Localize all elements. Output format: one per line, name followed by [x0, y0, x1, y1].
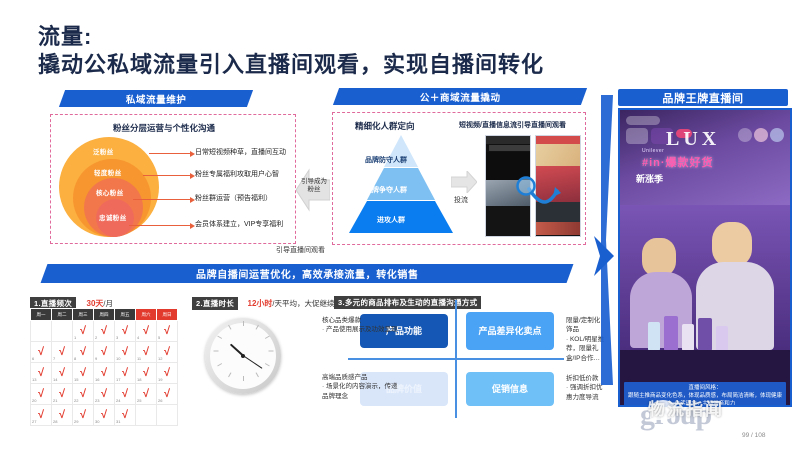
- calendar-day-number: 3: [116, 335, 118, 340]
- calendar-day-number: 15: [74, 377, 78, 382]
- banner-public-domain: 公＋商域流量撬动: [333, 88, 587, 105]
- calendar-weekday-3: 周四: [94, 309, 115, 321]
- calendar-day-number: 20: [32, 398, 36, 403]
- section-2-highlight: 12小时: [248, 299, 273, 308]
- live-room-avatar-chip: [626, 128, 648, 144]
- calendar-day-number: 21: [53, 398, 57, 403]
- live-room-screenshot: LUX Unilever #in·爆款好货 新涨季 直播间风格： 跟随主推商品变…: [618, 108, 792, 407]
- clock-tick-6: [243, 376, 244, 381]
- calendar-day-2[interactable]: √2: [94, 321, 115, 342]
- traffic-inject-arrow-icon: [451, 171, 477, 193]
- calendar-day-31[interactable]: √31: [115, 405, 136, 426]
- calendar-day-25[interactable]: √25: [136, 384, 157, 405]
- calendar-day-16[interactable]: √16: [94, 363, 115, 384]
- callout-text-4: 会员体系建立，VIP专享福利: [195, 219, 283, 229]
- clock-tick-0: [243, 321, 244, 326]
- calendar-day-number: 6: [32, 356, 34, 361]
- live-room-headline: #in·爆款好货: [642, 154, 714, 170]
- calendar-day-4[interactable]: √4: [136, 321, 157, 342]
- calendar-day-22[interactable]: √22: [73, 384, 94, 405]
- calendar-day-9[interactable]: √9: [94, 342, 115, 363]
- callout-arrow-1: [149, 153, 191, 154]
- calendar-check-icon: √: [74, 326, 92, 337]
- calendar-day-5[interactable]: √5: [157, 321, 178, 342]
- calendar-row: √6√7√8√9√10√11√12: [31, 342, 178, 363]
- become-fan-arrow-label: 引导成为粉丝: [299, 178, 329, 194]
- fan-ring-outer-label: 泛粉丝: [93, 146, 114, 156]
- banner-private-domain-label: 私域流量维护: [126, 92, 187, 106]
- calendar-check-icon: √: [53, 347, 71, 358]
- calendar-day-30[interactable]: √30: [94, 405, 115, 426]
- pyramid-label-defense: 品牌防守人群: [365, 155, 407, 165]
- calendar-day-number: 5: [158, 335, 160, 340]
- calendar-day-number: 27: [32, 419, 36, 424]
- private-domain-panel: 粉丝分层运营与个性化沟通 泛粉丝 轻度粉丝 核心粉丝 忠诚粉丝 日常短视频种草，…: [50, 114, 296, 244]
- calendar-check-icon: √: [137, 326, 155, 337]
- calendar-day-number: 30: [95, 419, 99, 424]
- product-bottle-3: [682, 324, 694, 352]
- magnifier-icon: [515, 175, 561, 215]
- page-number: 99 / 108: [742, 432, 766, 439]
- calendar-check-icon: √: [158, 326, 176, 337]
- calendar-check-icon: √: [116, 326, 134, 337]
- calendar-day-number: 31: [116, 419, 120, 424]
- slide-root: 流量: 撬动公私域流量引入直播间观看，实现自播间转化 私域流量维护 公＋商域流量…: [0, 0, 800, 450]
- calendar-day-8[interactable]: √8: [73, 342, 94, 363]
- calendar-day-number: 13: [32, 377, 36, 382]
- calendar-day-number: 24: [116, 398, 120, 403]
- quadrant-horizontal-axis: [348, 358, 564, 360]
- calendar-body: √1√2√3√4√5√6√7√8√9√10√11√12√13√14√15√16√…: [31, 321, 178, 426]
- calendar-day-number: 29: [74, 419, 78, 424]
- calendar-day-10[interactable]: √10: [115, 342, 136, 363]
- clock-tick-3: [269, 351, 274, 352]
- calendar-table: 周一周二周三周四周五周六周日 √1√2√3√4√5√6√7√8√9√10√11√…: [30, 308, 178, 426]
- page-title: 流量: 撬动公私域流量引入直播间观看，实现自播间转化: [38, 24, 544, 79]
- calendar-day-number: 9: [95, 356, 97, 361]
- fan-ring-loyal-label: 忠诚粉丝: [99, 212, 127, 222]
- calendar-weekday-2: 周三: [73, 309, 94, 321]
- live-room-season: 新涨季: [636, 172, 663, 185]
- live-room-viewer-1: [738, 128, 752, 142]
- calendar-day-empty: [157, 405, 178, 426]
- calendar-day-number: 22: [74, 398, 78, 403]
- public-domain-panel: 精细化人群定向 短视频/直播信息流引导直播间观看 品牌防守人群 品牌争夺人群 进…: [332, 112, 586, 245]
- calendar-header-row: 周一周二周三周四周五周六周日: [31, 309, 178, 321]
- calendar-day-number: 17: [116, 377, 120, 382]
- private-domain-heading: 粉丝分层运营与个性化沟通: [113, 122, 215, 134]
- product-bottle-4: [698, 318, 712, 352]
- host-female-head: [642, 238, 676, 276]
- calendar-day-number: 11: [137, 356, 141, 361]
- product-bottle-5: [716, 326, 728, 352]
- calendar-check-icon: √: [95, 347, 113, 358]
- callout-arrow-4: [129, 225, 191, 226]
- calendar-day-18[interactable]: √18: [136, 363, 157, 384]
- title-line-1: 流量:: [38, 24, 544, 49]
- calendar-day-15[interactable]: √15: [73, 363, 94, 384]
- live-room-host-chip: [626, 116, 660, 125]
- public-domain-heading-right: 短视频/直播信息流引导直播间观看: [459, 120, 566, 130]
- calendar-day-28[interactable]: √28: [52, 405, 73, 426]
- calendar-day-20[interactable]: √20: [31, 384, 52, 405]
- traffic-inject-label: 投流: [454, 195, 468, 205]
- banner-operations-label: 品牌自播间运营优化，高效承接流量，转化销售: [196, 266, 419, 281]
- clock-center-pin: [241, 354, 245, 358]
- live-room-viewer-3: [770, 128, 784, 142]
- calendar-day-29[interactable]: √29: [73, 405, 94, 426]
- calendar-day-number: 25: [137, 398, 141, 403]
- calendar-day-number: 18: [137, 377, 141, 382]
- calendar-day-number: 14: [53, 377, 57, 382]
- calendar-check-icon: √: [32, 347, 50, 358]
- calendar-row: √27√28√29√30√31: [31, 405, 178, 426]
- broadcast-frequency-calendar: 周一周二周三周四周五周六周日 √1√2√3√4√5√6√7√8√9√10√11√…: [30, 308, 178, 426]
- calendar-day-number: 4: [137, 335, 139, 340]
- calendar-row: √20√21√22√23√24√25√26: [31, 384, 178, 405]
- calendar-weekday-4: 周五: [115, 309, 136, 321]
- live-room-brand-logo: LUX: [666, 128, 720, 151]
- banner-brand-live-room: 品牌王牌直播间: [618, 89, 788, 106]
- calendar-day-26[interactable]: √26: [157, 384, 178, 405]
- quadrant-note-top-left: 核心品类爆款 · 产品使用展示及功效呈现: [322, 316, 398, 335]
- calendar-day-11[interactable]: √11: [136, 342, 157, 363]
- section-1-suffix: /月: [103, 299, 113, 308]
- banner-operations: 品牌自播间运营优化，高效承接流量，转化销售: [41, 264, 574, 283]
- calendar-day-number: 10: [116, 356, 120, 361]
- calendar-weekday-1: 周二: [52, 309, 73, 321]
- calendar-day-13[interactable]: √13: [31, 363, 52, 384]
- calendar-row: √1√2√3√4√5: [31, 321, 178, 342]
- calendar-row: √13√14√15√16√17√18√19: [31, 363, 178, 384]
- calendar-weekday-6: 周日: [157, 309, 178, 321]
- public-domain-heading-left: 精细化人群定向: [355, 120, 415, 132]
- section-2-header: 2.直播时长 12小时/天平均，大促继续拉长: [192, 293, 350, 311]
- calendar-day-21[interactable]: √21: [52, 384, 73, 405]
- fan-ring-light-label: 轻度粉丝: [94, 167, 122, 177]
- calendar-day-12[interactable]: √12: [157, 342, 178, 363]
- calendar-day-6[interactable]: √6: [31, 342, 52, 363]
- calendar-day-number: 26: [158, 398, 162, 403]
- title-line-2: 撬动公私域流量引入直播间观看，实现自播间转化: [38, 51, 544, 79]
- callout-text-2: 粉丝专属福利攻取用户心智: [195, 169, 279, 179]
- pyramid-label-contest: 品牌争夺人群: [365, 185, 407, 195]
- live-room-viewer-2: [754, 128, 768, 142]
- calendar-day-14[interactable]: √14: [52, 363, 73, 384]
- callout-text-3: 粉丝群运营（预告福利）: [195, 193, 272, 203]
- banner-brand-live-room-label: 品牌王牌直播间: [662, 90, 743, 106]
- quadrant-differentiation: 产品差异化卖点: [466, 312, 554, 350]
- calendar-check-icon: √: [95, 326, 113, 337]
- calendar-day-number: 28: [53, 419, 57, 424]
- quadrant-promotion-info: 促销信息: [466, 372, 554, 406]
- calendar-day-empty: [31, 321, 52, 342]
- calendar-day-empty: [52, 321, 73, 342]
- fan-ring-core-label: 核心粉丝: [96, 187, 124, 197]
- guide-watch-label: 引导直播间观看: [276, 245, 325, 255]
- calendar-day-number: 16: [95, 377, 99, 382]
- banner-private-domain: 私域流量维护: [59, 90, 253, 107]
- calendar-day-number: 8: [74, 356, 76, 361]
- watermark-chinese: 物流指闻: [648, 395, 724, 420]
- to-live-room-arrow-icon: [594, 236, 614, 276]
- calendar-day-1[interactable]: √1: [73, 321, 94, 342]
- quadrant-note-bottom-left: 高端品质感产品 · 场景化的内容演示，传递品牌理念: [322, 373, 398, 401]
- calendar-day-number: 12: [158, 356, 162, 361]
- product-bottle-1: [648, 322, 660, 352]
- host-male-head: [712, 222, 752, 266]
- banner-public-domain-label: 公＋商域流量撬动: [420, 90, 501, 104]
- calendar-day-24[interactable]: √24: [115, 384, 136, 405]
- calendar-day-19[interactable]: √19: [157, 363, 178, 384]
- callout-arrow-3: [133, 199, 191, 200]
- calendar-day-number: 7: [53, 356, 55, 361]
- pyramid-label-offense: 进攻人群: [377, 215, 405, 225]
- calendar-day-27[interactable]: √27: [31, 405, 52, 426]
- calendar-day-17[interactable]: √17: [115, 363, 136, 384]
- calendar-day-empty: [136, 405, 157, 426]
- calendar-weekday-5: 周六: [136, 309, 157, 321]
- clock-graphic: [205, 318, 281, 394]
- product-bottle-2: [664, 316, 678, 352]
- calendar-day-7[interactable]: √7: [52, 342, 73, 363]
- calendar-day-23[interactable]: √23: [94, 384, 115, 405]
- calendar-day-number: 1: [74, 335, 76, 340]
- section-2-number: 2.直播时长: [192, 297, 238, 310]
- calendar-day-3[interactable]: √3: [115, 321, 136, 342]
- calendar-day-number: 2: [95, 335, 97, 340]
- section-1-highlight: 30天: [87, 299, 104, 308]
- callout-text-1: 日常短视频种草，直播间互动: [195, 147, 286, 157]
- calendar-weekday-0: 周一: [31, 309, 52, 321]
- calendar-check-icon: √: [74, 347, 92, 358]
- callout-arrow-2: [143, 175, 191, 176]
- clock-tick-9: [214, 351, 219, 352]
- calendar-day-number: 19: [158, 377, 162, 382]
- calendar-day-number: 23: [95, 398, 99, 403]
